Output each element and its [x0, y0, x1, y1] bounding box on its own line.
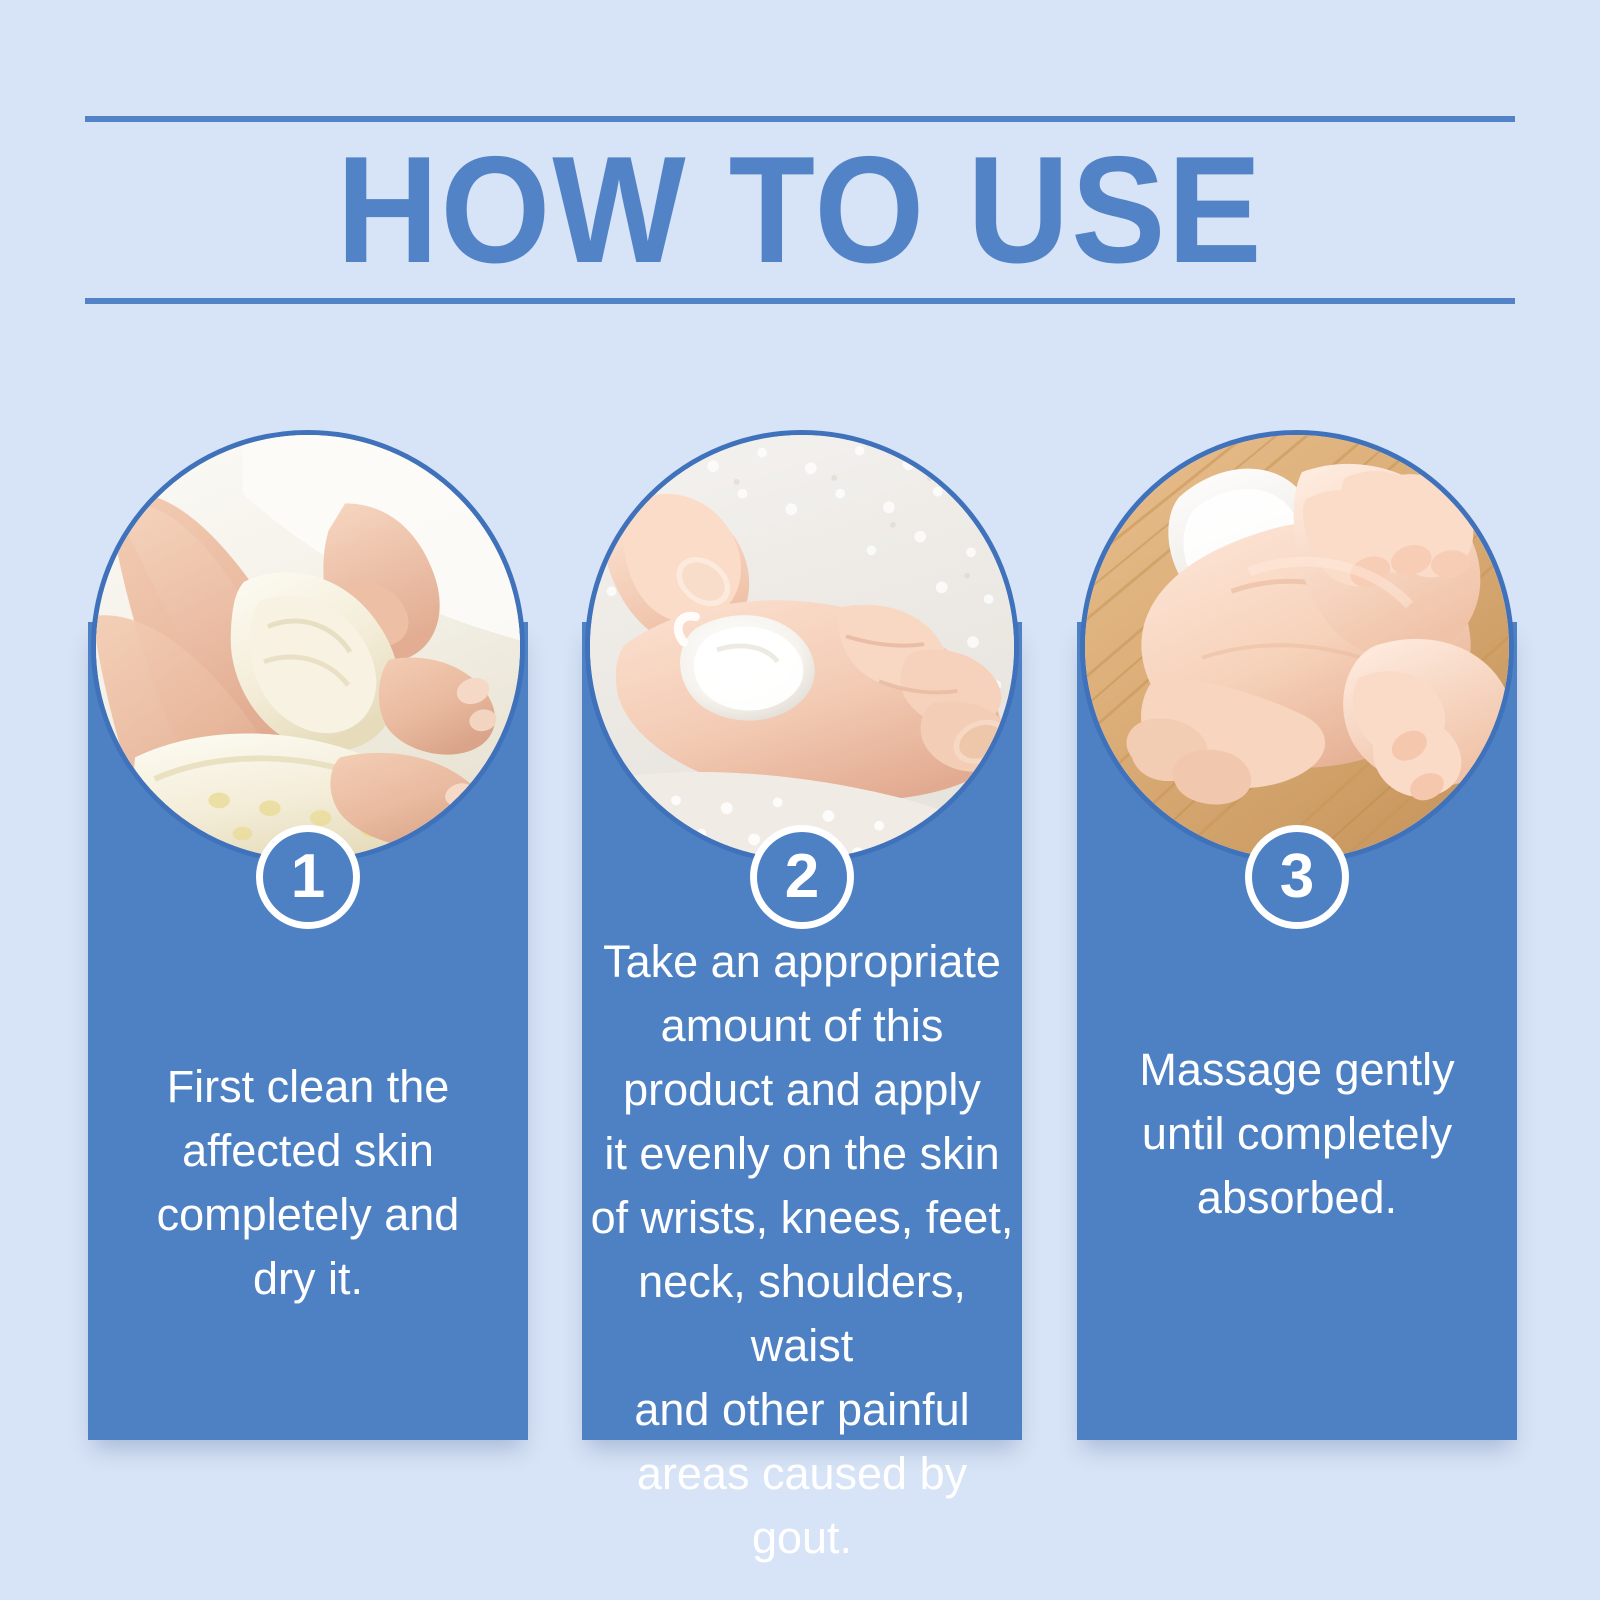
hands-drying-feet-with-towel-icon: [96, 435, 520, 859]
hands-massaging-foot-on-wood-icon: [1085, 435, 1509, 859]
finger-applying-cream-to-foot-icon: [590, 435, 1014, 859]
step-photo-2: [585, 430, 1019, 864]
step-number-badge-1: 1: [256, 825, 360, 929]
step-caption-3: Massage gently until completely absorbed…: [1085, 1038, 1509, 1230]
step-number-badge-2: 2: [750, 825, 854, 929]
step-caption-2: Take an appropriate amount of this produ…: [590, 930, 1014, 1570]
steps-container: 1 First clean the affected skin complete…: [0, 0, 1600, 1600]
step-caption-1: First clean the affected skin completely…: [96, 1055, 520, 1311]
step-card-1: 1 First clean the affected skin complete…: [88, 430, 528, 1450]
step-card-2: 2 Take an appropriate amount of this pro…: [582, 430, 1022, 1450]
step-number-badge-3: 3: [1245, 825, 1349, 929]
step-photo-1: [91, 430, 525, 864]
step-card-3: 3 Massage gently until completely absorb…: [1077, 430, 1517, 1450]
step-photo-3: [1080, 430, 1514, 864]
